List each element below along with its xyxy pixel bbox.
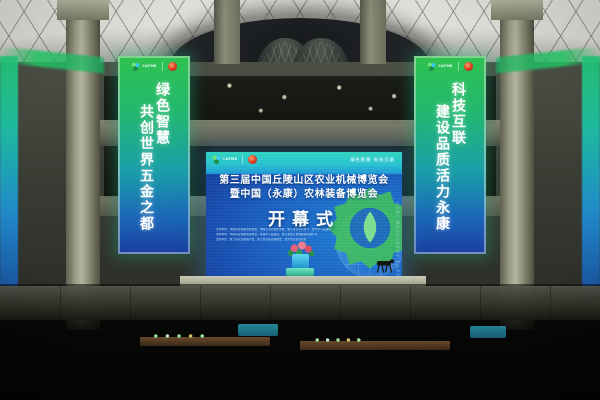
audience-area: [0, 284, 600, 400]
logo-divider: [458, 62, 459, 71]
leaf-logo-icon: [212, 155, 221, 164]
side-led-strip-left: [0, 56, 18, 306]
column-capital-left: [57, 0, 109, 20]
cafme-logo-right: CAFME: [427, 62, 452, 71]
leaf-logo-icon: [427, 62, 436, 71]
event-title-line2: 暨中国（永康）农林装备博览会: [206, 188, 402, 202]
inner-column-left: [214, 0, 240, 64]
teal-seat: [238, 324, 278, 336]
flower-pot: [292, 254, 309, 269]
main-column-left: [66, 0, 100, 330]
seal-emblem-icon: [248, 155, 257, 164]
cafme-logo-left: CAFME: [131, 62, 156, 71]
flower-plinth: [286, 268, 314, 276]
event-title-line1: 第三届中国丘陵山区农业机械博览会: [206, 174, 402, 188]
banner-right-line2: 建设品质活力永康: [435, 104, 449, 252]
credit-line-3: 支持单位：浙江省农业机械学会、浙江省农机流通协会、金华市农业农村局: [216, 238, 348, 243]
banner-left-line2: 共创世界五金之都: [139, 104, 153, 252]
robot-dog: [372, 258, 398, 274]
screen-logos: CAFME: [212, 155, 257, 164]
teal-seat: [470, 326, 506, 338]
photo-scene: CAFME 绿色智慧 共创世界五金之都 CAFME 科技互联 建设: [0, 0, 600, 400]
screen-title-block: 第三届中国丘陵山区农业机械博览会 暨中国（永康）农林装备博览会 开幕式: [206, 174, 402, 230]
logo-divider: [162, 62, 163, 71]
led-banner-left: CAFME 绿色智慧 共创世界五金之都: [118, 56, 190, 254]
banner-left-text: 绿色智慧 共创世界五金之都: [118, 82, 190, 252]
logo-divider: [242, 155, 243, 164]
event-headline: 开幕式: [206, 205, 402, 230]
banner-right-line1: 科技互联: [451, 82, 465, 252]
main-column-right: [500, 0, 534, 330]
screen-slogan: 绿色智慧 科技互联: [350, 157, 395, 163]
cafme-logo-text: CAFME: [223, 158, 237, 162]
cafme-logo-text: CAFME: [438, 65, 452, 69]
organizer-credits: 主办单位：中国农业机械流通协会、中国农业机械化协会、浙江省农业农村厅、金华市人民…: [216, 228, 348, 242]
seal-emblem-icon: [464, 62, 473, 71]
banner-left-line1: 绿色智慧: [155, 82, 169, 252]
cafme-logo-text: CAFME: [142, 65, 156, 69]
seal-logo-screen: [248, 155, 257, 164]
cafme-logo-screen: CAFME: [212, 155, 237, 164]
leaf-logo-icon: [131, 62, 140, 71]
led-banner-right: CAFME 科技互联 建设品质活力永康: [414, 56, 486, 254]
inner-column-right: [360, 0, 386, 64]
side-led-strip-right: [582, 56, 600, 306]
seal-logo-left: [168, 62, 177, 71]
banner-right-logos: CAFME: [414, 62, 486, 71]
column-capital-right: [491, 0, 543, 20]
seal-logo-right: [464, 62, 473, 71]
water-bottles: [312, 336, 364, 344]
banner-right-text: 科技互联 建设品质活力永康: [414, 82, 486, 252]
banner-left-logos: CAFME: [118, 62, 190, 71]
water-bottles: [150, 332, 208, 340]
seal-emblem-icon: [168, 62, 177, 71]
